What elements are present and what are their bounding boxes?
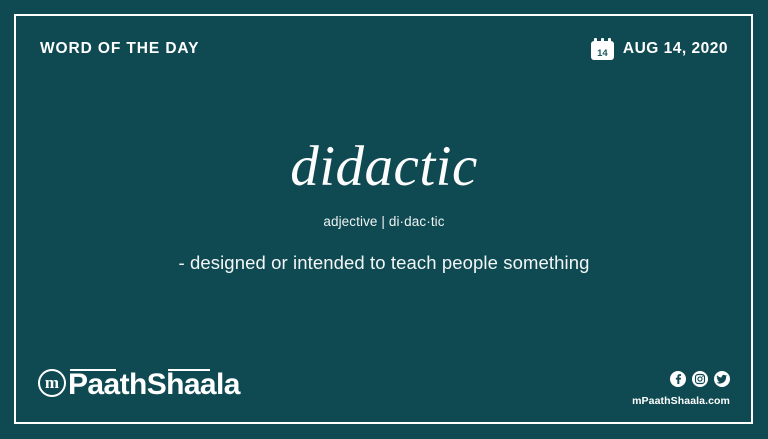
word-of-the-day-card: WORD OF THE DAY 14 AUG 14, 2020 didactic… xyxy=(0,0,768,439)
word-entry: didactic adjective | di·dac·tic - design… xyxy=(0,138,768,274)
calendar-body: 14 xyxy=(591,41,614,61)
facebook-icon[interactable] xyxy=(670,371,686,387)
instagram-icon[interactable] xyxy=(692,371,708,387)
twitter-icon[interactable] xyxy=(714,371,730,387)
card-header: WORD OF THE DAY 14 AUG 14, 2020 xyxy=(40,36,728,62)
definition-text: - designed or intended to teach people s… xyxy=(0,252,768,274)
page-title: WORD OF THE DAY xyxy=(40,40,199,58)
website-label: mPaathShaala.com xyxy=(632,395,730,407)
brand-logo: m PaathShaala xyxy=(38,366,240,400)
logo-wordmark: PaathShaala xyxy=(68,366,240,400)
word-headline: didactic xyxy=(0,138,768,195)
social-links[interactable] xyxy=(670,371,730,387)
logo-mark-letter: m xyxy=(45,374,59,391)
pronunciation-line: adjective | di·dac·tic xyxy=(0,214,768,229)
logo-mark-circle: m xyxy=(38,369,66,397)
calendar-icon: 14 xyxy=(591,38,614,60)
calendar-day-number: 14 xyxy=(597,49,608,59)
date-group: 14 AUG 14, 2020 xyxy=(591,38,728,60)
date-label: AUG 14, 2020 xyxy=(623,40,728,58)
